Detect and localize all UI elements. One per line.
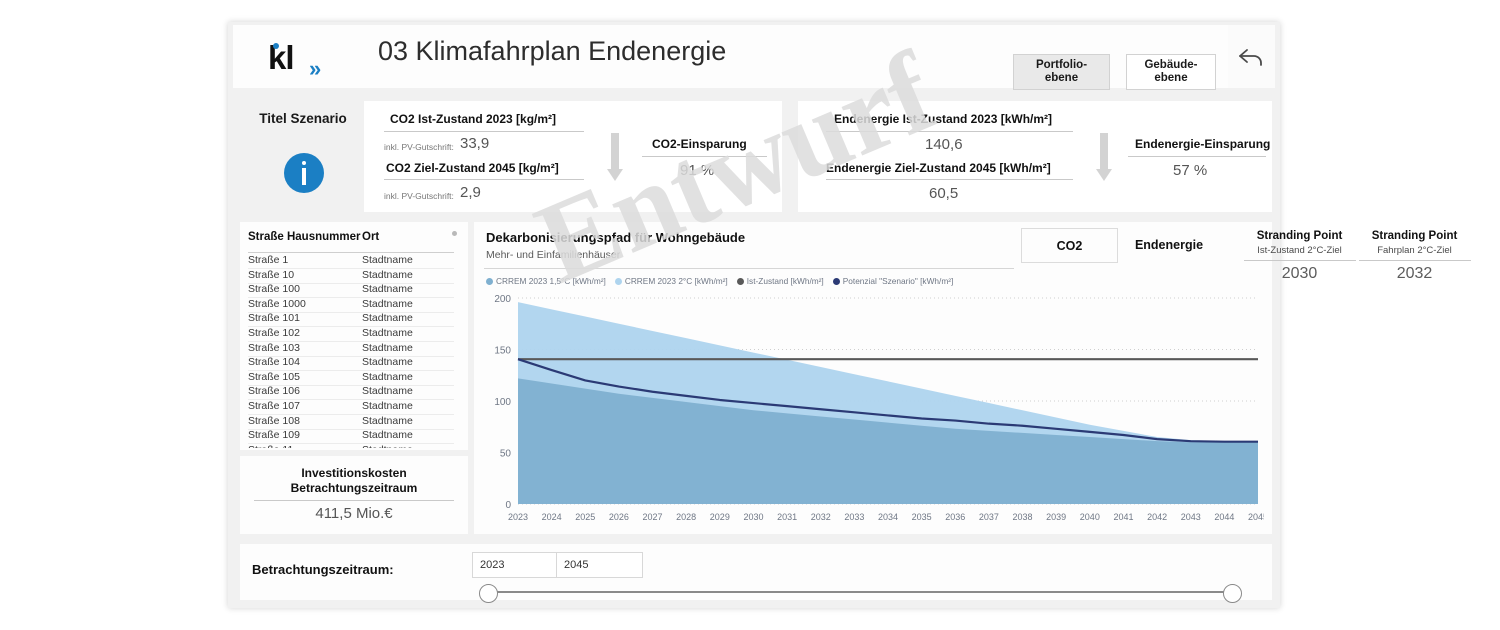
endenergie-kpi-panel: Endenergie Ist-Zustand 2023 [kWh/m²] 140… — [798, 101, 1272, 212]
cell-street: Straße 108 — [248, 415, 300, 427]
table-header-city: Ort — [362, 231, 379, 243]
info-icon[interactable] — [284, 153, 324, 193]
cell-city: Stadtname — [362, 385, 413, 397]
co2-saving-value: 91 % — [680, 162, 714, 179]
cell-street: Straße 1000 — [248, 298, 306, 310]
cell-street: Straße 11 — [248, 444, 293, 448]
investment-value: 411,5 Mio.€ — [240, 505, 468, 522]
chart-title: Dekarbonisierungspfad für Wohngebäude — [486, 230, 745, 245]
stranding-fahrplan-sub: Fahrplan 2°C-Ziel — [1357, 245, 1472, 256]
stranding-point-fahrplan: Stranding Point Fahrplan 2°C-Ziel 2032 — [1357, 222, 1472, 283]
cell-city: Stadtname — [362, 356, 413, 368]
table-row[interactable]: Straße 107Stadtname — [240, 400, 468, 415]
x-axis-tick-label: 2025 — [575, 512, 595, 522]
x-axis-tick-label: 2024 — [542, 512, 562, 522]
ee-ziel-rule — [826, 179, 1073, 180]
x-axis-tick-label: 2037 — [979, 512, 999, 522]
cell-city: Stadtname — [362, 283, 413, 295]
legend-label: Potenzial "Szenario" [kWh/m²] — [843, 276, 954, 286]
x-axis-tick-label: 2027 — [643, 512, 663, 522]
x-axis-tick-label: 2023 — [508, 512, 528, 522]
cell-street: Straße 100 — [248, 283, 300, 295]
table-row[interactable]: Straße 109Stadtname — [240, 429, 468, 444]
x-axis-tick-label: 2035 — [912, 512, 932, 522]
co2-saving-header: CO2-Einsparung — [652, 137, 747, 151]
legend-swatch — [737, 278, 744, 285]
x-axis-tick-label: 2031 — [777, 512, 797, 522]
co2-ist-rule — [384, 131, 584, 132]
x-axis-tick-label: 2038 — [1013, 512, 1033, 522]
info-icon-dot — [302, 161, 306, 165]
co2-saving-rule — [642, 156, 767, 157]
co2-ziel-value: 2,9 — [460, 184, 481, 201]
legend-label: CRREM 2023 1,5°C [kWh/m²] — [496, 276, 606, 286]
x-axis-tick-label: 2029 — [710, 512, 730, 522]
legend-swatch — [615, 278, 622, 285]
table-row[interactable]: Straße 101Stadtname — [240, 312, 468, 327]
scenario-title-label: Titel Szenario — [248, 111, 358, 126]
cell-street: Straße 103 — [248, 342, 300, 354]
stranding-ist-header: Stranding Point — [1242, 230, 1357, 242]
page-title: 03 Klimafahrplan Endenergie — [378, 36, 726, 67]
cell-city: Stadtname — [362, 327, 413, 339]
ee-saving-header: Endenergie-Einsparung — [1135, 137, 1270, 151]
chart-mode-endenergie-button[interactable]: Endenergie — [1119, 228, 1219, 261]
stranding-ist-rule — [1244, 260, 1356, 261]
x-axis-tick-label: 2036 — [945, 512, 965, 522]
table-header-rule — [248, 252, 454, 253]
logo-i-dot — [273, 43, 279, 49]
x-axis-tick-label: 2034 — [878, 512, 898, 522]
y-axis-tick-label: 0 — [505, 500, 511, 511]
y-axis-tick-label: 50 — [500, 449, 512, 460]
buildings-table[interactable]: Straße Hausnummer Ort Straße 1StadtnameS… — [240, 222, 468, 450]
co2-kpi-panel: CO2 Ist-Zustand 2023 [kg/m²] inkl. PV-Gu… — [364, 101, 782, 212]
table-row[interactable]: Straße 10Stadtname — [240, 269, 468, 284]
logo-text: kl — [268, 38, 294, 78]
stranding-fahrplan-value: 2032 — [1357, 265, 1472, 283]
building-level-button[interactable]: Gebäude- ebene — [1126, 54, 1216, 90]
chart-mode-co2-button[interactable]: CO2 — [1021, 228, 1118, 263]
cell-street: Straße 105 — [248, 371, 300, 383]
cell-city: Stadtname — [362, 269, 413, 281]
ee-ziel-value: 60,5 — [929, 185, 958, 202]
portfolio-level-button[interactable]: Portfolio- ebene — [1013, 54, 1110, 90]
stranding-ist-sub: Ist-Zustand 2°C-Ziel — [1242, 245, 1357, 256]
stranding-ist-value: 2030 — [1242, 265, 1357, 283]
portfolio-label-line2: ebene — [1036, 72, 1087, 85]
gebaeude-label-line2: ebene — [1144, 72, 1197, 85]
cell-street: Straße 104 — [248, 356, 300, 368]
table-body[interactable]: Straße 1StadtnameStraße 10StadtnameStraß… — [240, 254, 468, 448]
investment-header-line2: Betrachtungszeitraum — [240, 481, 468, 496]
stranding-fahrplan-header: Stranding Point — [1357, 230, 1472, 242]
app-header: kl » 03 Klimafahrplan Endenergie Portfol… — [228, 22, 1280, 94]
time-range-track[interactable] — [488, 591, 1231, 593]
time-range-panel: Betrachtungszeitraum: 2023 2045 — [240, 544, 1272, 600]
legend-item[interactable]: Potenzial "Szenario" [kWh/m²] — [833, 276, 954, 286]
year-to-input[interactable]: 2045 — [556, 552, 643, 578]
cell-street: Straße 1 — [248, 254, 288, 266]
legend-item[interactable]: Ist-Zustand [kWh/m²] — [737, 276, 824, 286]
table-row[interactable]: Straße 108Stadtname — [240, 415, 468, 430]
portfolio-label-line1: Portfolio- — [1036, 59, 1087, 72]
cell-city: Stadtname — [362, 444, 413, 448]
stranding-point-ist: Stranding Point Ist-Zustand 2°C-Ziel 203… — [1242, 222, 1357, 283]
stranding-fahrplan-rule — [1359, 260, 1471, 261]
co2-ziel-prefix: inkl. PV-Gutschrift: — [384, 191, 454, 201]
ee-saving-value: 57 % — [1173, 162, 1207, 179]
co2-ist-value: 33,9 — [460, 135, 489, 152]
ee-ist-value: 140,6 — [925, 136, 963, 153]
info-icon-stem — [302, 168, 306, 185]
table-options-icon[interactable] — [452, 231, 457, 236]
legend-swatch — [833, 278, 840, 285]
logo-chevron-icon: » — [309, 58, 318, 80]
gebaeude-label-line1: Gebäude- — [1144, 59, 1197, 72]
chart-subtitle: Mehr- und Einfamilienhäuser — [486, 249, 620, 261]
back-arrow-icon — [1237, 42, 1267, 72]
table-row[interactable]: Straße 105Stadtname — [240, 371, 468, 386]
co2-ziel-header: CO2 Ziel-Zustand 2045 [kg/m²] — [386, 161, 559, 175]
table-row[interactable]: Straße 103Stadtname — [240, 342, 468, 357]
cell-street: Straße 102 — [248, 327, 300, 339]
legend-label: Ist-Zustand [kWh/m²] — [747, 276, 824, 286]
time-range-label: Betrachtungszeitraum: — [252, 562, 394, 577]
year-from-input[interactable]: 2023 — [472, 552, 559, 578]
x-axis-tick-label: 2044 — [1214, 512, 1234, 522]
ee-ist-header: Endenergie Ist-Zustand 2023 [kWh/m²] — [834, 112, 1052, 126]
x-axis-tick-label: 2033 — [844, 512, 864, 522]
investment-rule — [254, 500, 454, 501]
cell-city: Stadtname — [362, 254, 413, 266]
x-axis-tick-label: 2032 — [811, 512, 831, 522]
table-row[interactable]: Straße 102Stadtname — [240, 327, 468, 342]
table-row[interactable]: Straße 104Stadtname — [240, 356, 468, 371]
chart-plot-area: 0501001502002023202420252026202720282029… — [484, 292, 1264, 530]
cell-street: Straße 10 — [248, 269, 294, 281]
brand-logo: kl » — [268, 38, 348, 78]
x-axis-tick-label: 2042 — [1147, 512, 1167, 522]
co2-ziel-rule — [384, 179, 584, 180]
decarbonization-area-chart: 0501001502002023202420252026202720282029… — [484, 292, 1264, 530]
cell-city: Stadtname — [362, 312, 413, 324]
co2-ist-prefix: inkl. PV-Gutschrift: — [384, 142, 454, 152]
legend-item[interactable]: CRREM 2023 2°C [kWh/m²] — [615, 276, 728, 286]
investment-header-line1: Investitionskosten — [240, 466, 468, 481]
x-axis-tick-label: 2028 — [676, 512, 696, 522]
cell-city: Stadtname — [362, 415, 413, 427]
x-axis-tick-label: 2043 — [1181, 512, 1201, 522]
legend-label: CRREM 2023 2°C [kWh/m²] — [625, 276, 728, 286]
x-axis-tick-label: 2030 — [743, 512, 763, 522]
table-row[interactable]: Straße 106Stadtname — [240, 385, 468, 400]
time-range-handle-right[interactable] — [1223, 584, 1242, 603]
chart-legend[interactable]: CRREM 2023 1,5°C [kWh/m²]CRREM 2023 2°C … — [486, 274, 953, 288]
table-row[interactable]: Straße 1Stadtname — [240, 254, 468, 269]
x-axis-tick-label: 2040 — [1080, 512, 1100, 522]
investment-header: Investitionskosten Betrachtungszeitraum — [240, 466, 468, 496]
investment-cost-card: Investitionskosten Betrachtungszeitraum … — [240, 456, 468, 534]
cell-city: Stadtname — [362, 371, 413, 383]
y-axis-tick-label: 150 — [494, 346, 511, 357]
x-axis-tick-label: 2026 — [609, 512, 629, 522]
legend-item[interactable]: CRREM 2023 1,5°C [kWh/m²] — [486, 276, 606, 286]
ee-ziel-header: Endenergie Ziel-Zustand 2045 [kWh/m²] — [826, 161, 1051, 175]
cell-street: Straße 106 — [248, 385, 300, 397]
cell-street: Straße 107 — [248, 400, 300, 412]
table-row[interactable]: Straße 11Stadtname — [240, 444, 468, 448]
co2-ist-header: CO2 Ist-Zustand 2023 [kg/m²] — [390, 112, 556, 126]
decarbonization-chart-card: Dekarbonisierungspfad für Wohngebäude Me… — [474, 222, 1272, 534]
cell-street: Straße 101 — [248, 312, 300, 324]
table-row[interactable]: Straße 1000Stadtname — [240, 298, 468, 313]
cell-city: Stadtname — [362, 342, 413, 354]
table-row[interactable]: Straße 100Stadtname — [240, 283, 468, 298]
x-axis-tick-label: 2041 — [1113, 512, 1133, 522]
y-axis-tick-label: 200 — [494, 294, 511, 305]
dashboard-app: kl » 03 Klimafahrplan Endenergie Portfol… — [228, 22, 1280, 608]
cell-city: Stadtname — [362, 400, 413, 412]
y-axis-tick-label: 100 — [494, 397, 511, 408]
time-range-handle-left[interactable] — [479, 584, 498, 603]
ee-ist-rule — [826, 131, 1073, 132]
chart-title-rule — [484, 268, 1014, 269]
cell-city: Stadtname — [362, 429, 413, 441]
back-button[interactable] — [1228, 25, 1275, 88]
cell-street: Straße 109 — [248, 429, 300, 441]
legend-swatch — [486, 278, 493, 285]
x-axis-tick-label: 2045 — [1248, 512, 1264, 522]
x-axis-tick-label: 2039 — [1046, 512, 1066, 522]
cell-city: Stadtname — [362, 298, 413, 310]
ee-saving-rule — [1128, 156, 1266, 157]
table-header-street: Straße Hausnummer — [248, 231, 360, 243]
